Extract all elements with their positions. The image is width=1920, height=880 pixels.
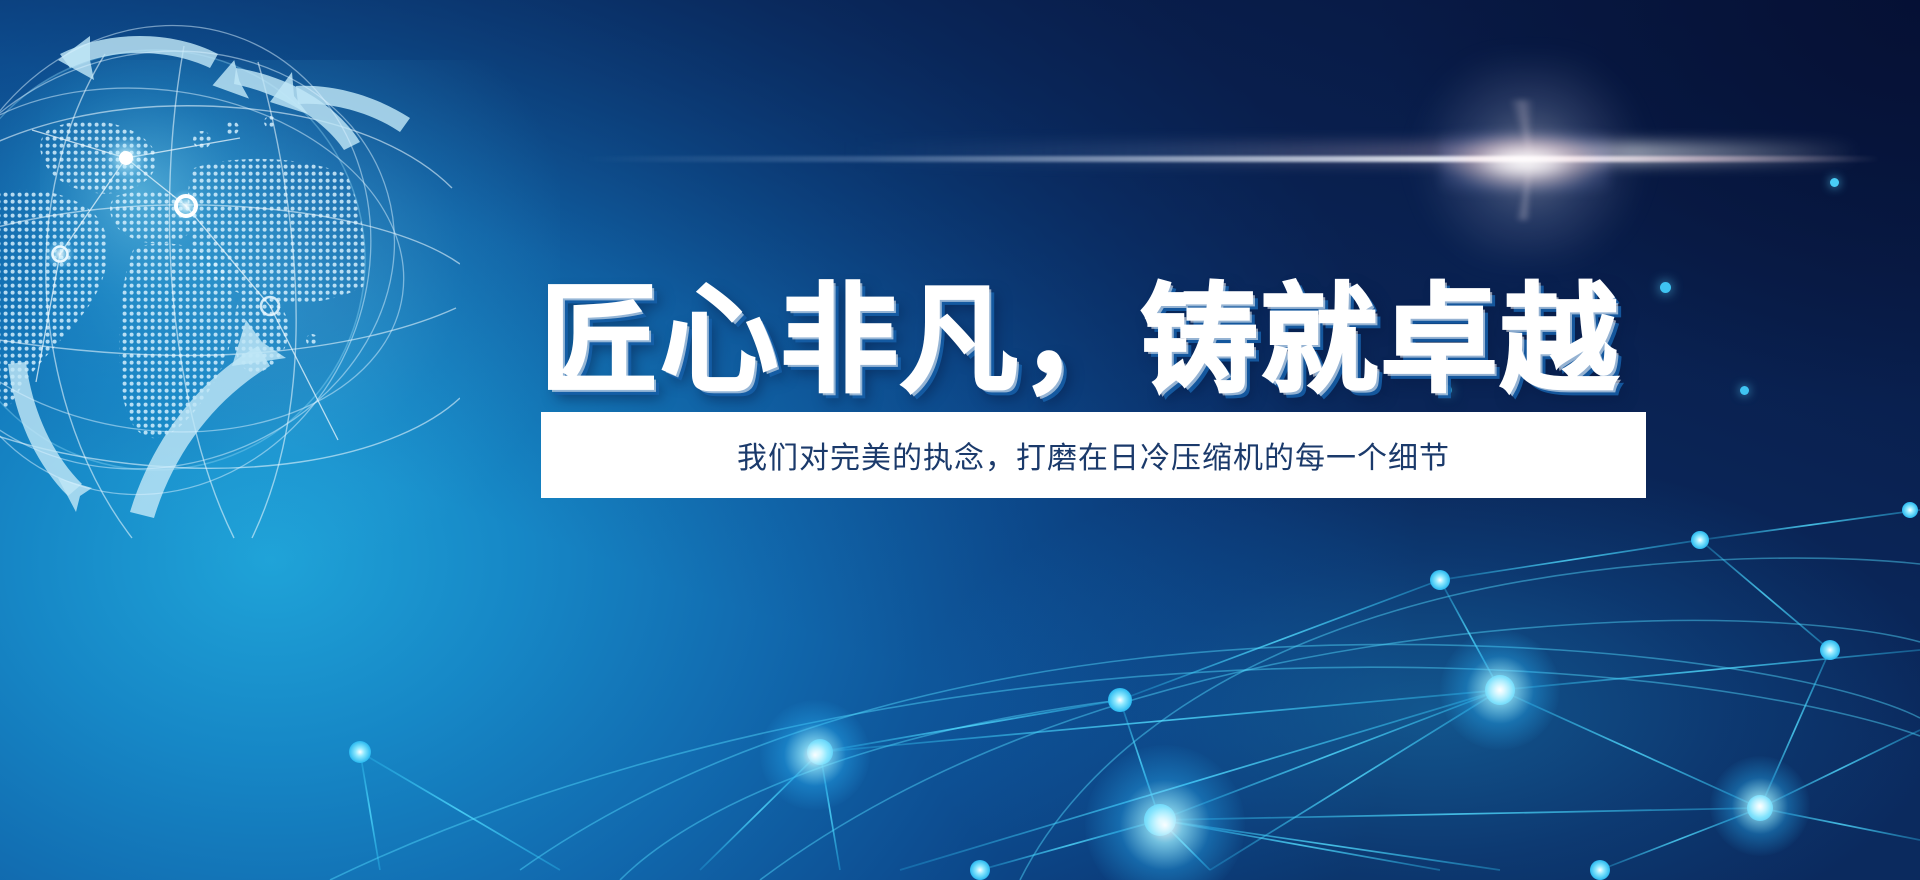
scatter-node	[1660, 282, 1671, 293]
banner-subtitle-bar: 我们对完美的执念，打磨在日冷压缩机的每一个细节	[541, 412, 1646, 498]
scatter-node	[1830, 178, 1839, 187]
banner-subtitle-text: 我们对完美的执念，打磨在日冷压缩机的每一个细节	[737, 433, 1450, 477]
scatter-node	[1740, 386, 1749, 395]
promo-banner: 匠心非凡，铸就卓越 我们对完美的执念，打磨在日冷压缩机的每一个细节	[0, 0, 1920, 880]
banner-headline: 匠心非凡，铸就卓越	[540, 279, 1620, 402]
